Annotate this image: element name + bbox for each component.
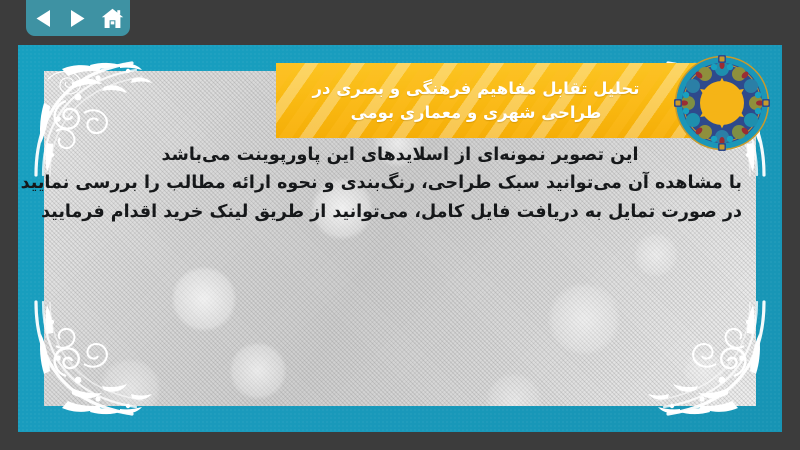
slide-body-text: این تصویر نمونه‌ای از اسلایدهای این پاور… — [18, 141, 782, 226]
triangle-right-icon — [69, 9, 86, 28]
navigation-toolbar — [26, 0, 130, 36]
slide: تحلیل تقابل مفاهیم فرهنگی و بصری در طراح… — [18, 45, 782, 432]
body-line: در صورت تمایل به دریافت فایل کامل، می‌تو… — [58, 198, 742, 226]
body-line: این تصویر نمونه‌ای از اسلایدهای این پاور… — [58, 141, 742, 169]
previous-slide-button[interactable] — [30, 5, 56, 31]
body-line: با مشاهده آن می‌توانید سبک طراحی، رنگ‌بن… — [58, 169, 742, 197]
slide-viewer: تحلیل تقابل مفاهیم فرهنگی و بصری در طراح… — [0, 0, 800, 450]
home-button[interactable] — [100, 5, 126, 31]
home-icon — [101, 8, 124, 29]
persian-mandala-medallion-icon — [672, 53, 772, 153]
banner-body: تحلیل تقابل مفاهیم فرهنگی و بصری در طراح… — [276, 63, 730, 138]
page-title: تحلیل تقابل مفاهیم فرهنگی و بصری در طراح… — [313, 77, 640, 124]
next-slide-button[interactable] — [65, 5, 91, 31]
triangle-left-icon — [35, 9, 52, 28]
